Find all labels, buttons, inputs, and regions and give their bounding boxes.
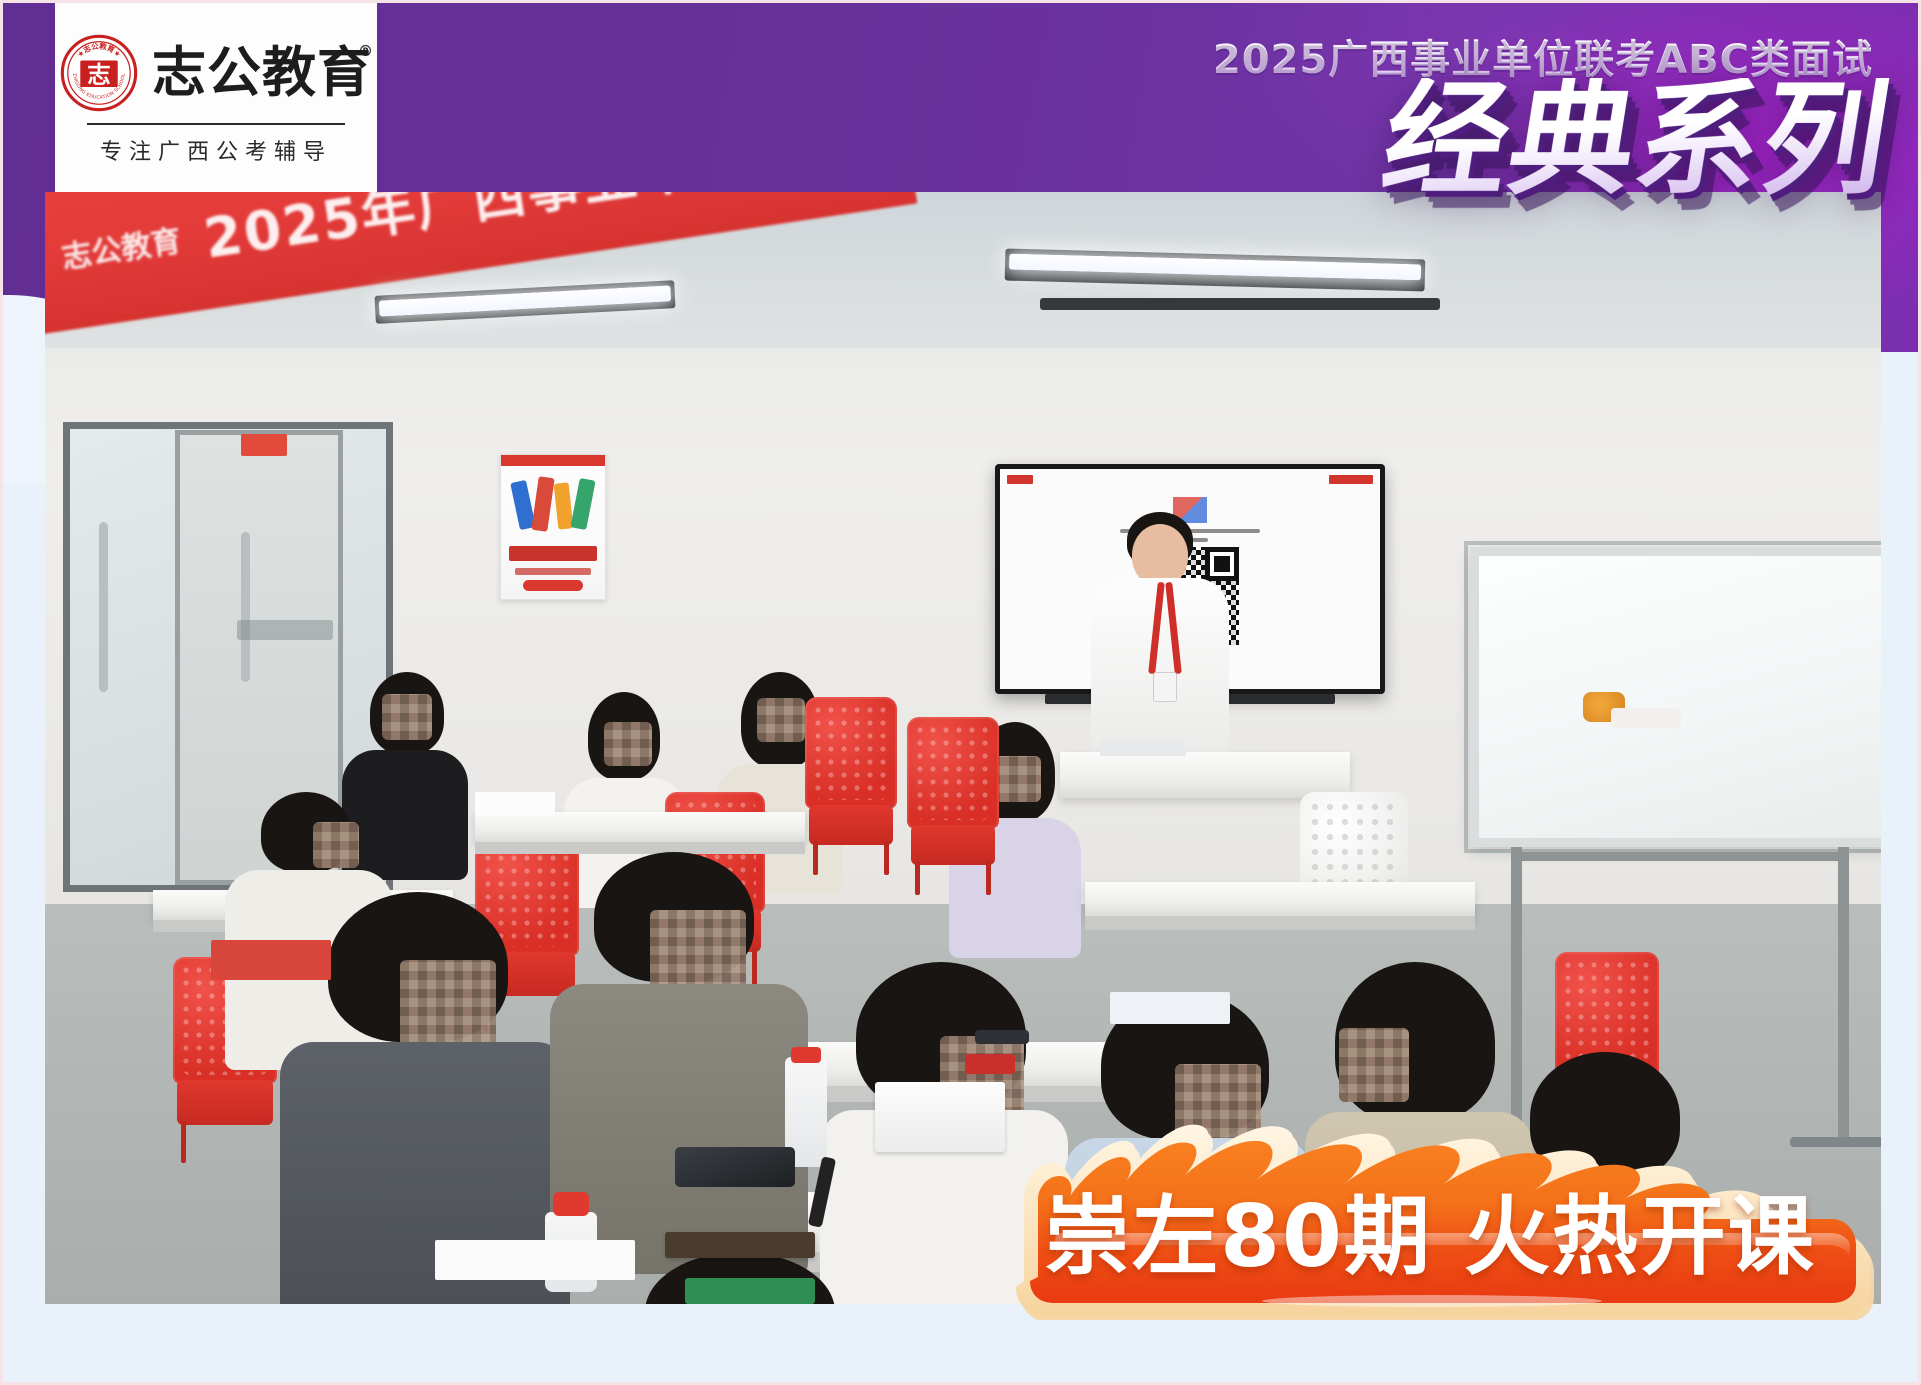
poster-figure-4 <box>570 478 595 530</box>
student-desk <box>1085 882 1475 916</box>
student-face-mosaic <box>757 698 805 742</box>
instructor <box>1085 512 1235 772</box>
poster-subtitle-block <box>515 568 591 575</box>
poster-root: ★志公教育★ ZHIGONG EDUCATION SCHOOL 志 志公教育 ®… <box>0 0 1921 1385</box>
instructor-head <box>1132 524 1188 586</box>
poster-cta-block <box>523 580 583 591</box>
desk-edge <box>1085 916 1475 930</box>
notebook-small <box>211 940 331 980</box>
poster-figure-2 <box>531 476 554 532</box>
instructor-badge <box>1153 672 1177 702</box>
whiteboard <box>1470 547 1881 847</box>
promo-banner-text: 崇左80期 火热开课 <box>1044 1166 1816 1291</box>
student-face-mosaic <box>313 822 359 868</box>
door-handle-2 <box>241 532 250 682</box>
smartphone <box>675 1147 795 1187</box>
ceiling-light-3 <box>1040 298 1440 310</box>
promo-banner-text-wrap: 崇左80期 火热开课 <box>980 1085 1880 1320</box>
screen-brand-right <box>1329 475 1373 484</box>
bottle-cap <box>553 1192 589 1216</box>
motivational-wall-poster <box>500 454 606 600</box>
classroom-chair <box>805 697 897 877</box>
paper-sheet <box>435 1240 635 1280</box>
door-handle <box>99 522 108 692</box>
document-stack <box>1110 992 1230 1024</box>
door-label <box>237 620 333 640</box>
eraser <box>965 1054 1015 1074</box>
classroom-chair <box>907 717 999 897</box>
student-face-mosaic <box>604 722 652 766</box>
poster-title-block <box>509 546 597 561</box>
paper-sheet <box>475 792 555 816</box>
screen-brand-left <box>1007 475 1033 484</box>
promo-banner: 崇左80期 火热开课 <box>980 1085 1880 1320</box>
notebook <box>665 1232 815 1258</box>
poster-header-bar <box>501 455 605 466</box>
student-face-mosaic <box>382 694 432 740</box>
bottle-cap <box>791 1047 821 1063</box>
desk-tray <box>1611 708 1681 728</box>
lectern-laptop <box>1100 740 1186 756</box>
green-folder <box>685 1278 815 1304</box>
student-front-3 <box>550 852 810 1272</box>
marker-pen <box>975 1030 1029 1044</box>
student-desk <box>475 812 805 842</box>
exit-sign-icon <box>241 434 287 456</box>
wall-banner-brand: 志公教育 <box>58 216 183 277</box>
whiteboard-crossbar <box>1515 852 1845 861</box>
page-title: 经典系列 <box>1375 78 1899 202</box>
student-face-mosaic <box>400 960 496 1052</box>
